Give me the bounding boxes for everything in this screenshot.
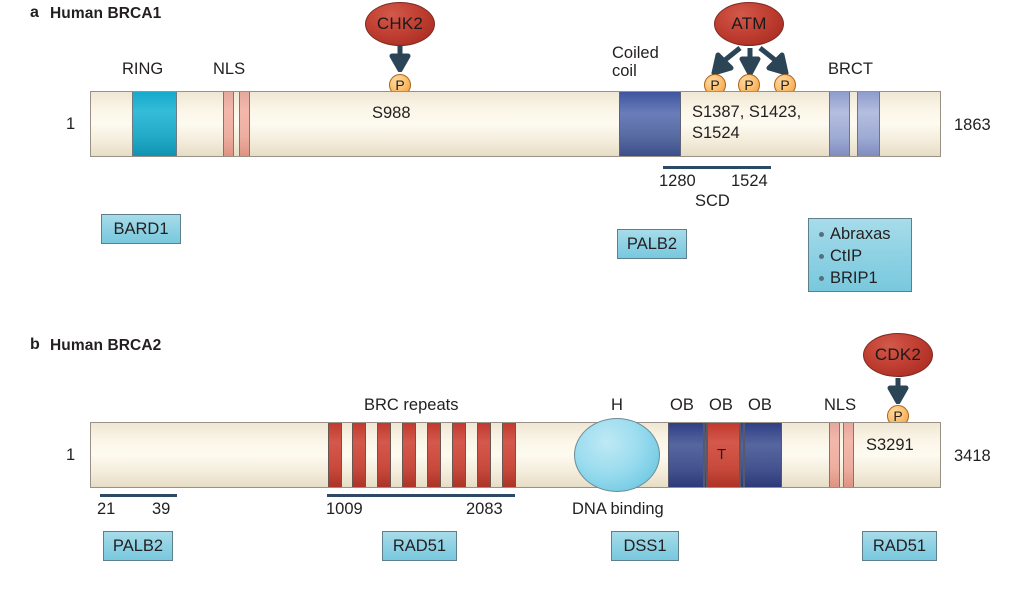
protein-bar-brca2 [90,422,941,488]
kinase-cdk2-label: CDK2 [875,345,921,365]
partner-box-bard1: BARD1 [101,214,181,244]
arrow-atm-to-phosphos [700,46,800,76]
partner-label-bard1: BARD1 [113,220,168,239]
domain-ring [132,92,177,156]
partner-label-rad51-cterm: RAD51 [873,537,926,556]
scale-end-palb2: 39 [152,500,170,519]
domain-label-ring: RING [122,60,163,78]
scale-start-palb2: 21 [97,500,115,519]
domain-label-coil: coil [612,62,637,80]
protein-bar-brca1 [90,91,941,157]
scale-rule-palb2 [100,494,177,497]
phospho-sites-atm-line1: S1387, S1423, [692,103,801,122]
scale-end-brc: 2083 [466,500,503,519]
figure-canvas: a Human BRCA1 CHK2 P ATM P P P RING NLS … [0,0,1024,601]
domain-brct-2 [857,92,880,156]
scale-start-scd: 1280 [659,172,696,191]
domain-helical-oval [574,418,660,492]
scale-end-scd: 1524 [731,172,768,191]
panel-a-title: Human BRCA1 [50,6,161,22]
start-residue-brca1: 1 [66,115,75,134]
domain-nls-brca2-stripe-2 [843,423,854,487]
brc-repeat-1 [328,423,342,487]
domain-nls-stripe-2 [239,92,250,156]
domain-ob-1 [668,423,704,487]
arrow-chk2-to-phospho [388,46,412,72]
phospho-site-s988: S988 [372,104,411,123]
domain-nls-brca2-stripe-1 [829,423,840,487]
panel-b-title: Human BRCA2 [50,338,161,354]
domain-label-ob-1: OB [670,396,694,414]
partner-label-rad51-brc: RAD51 [393,537,446,556]
domain-coiled-coil [619,92,681,156]
end-residue-brca1: 1863 [954,116,991,135]
end-residue-brca2: 3418 [954,447,991,466]
brc-repeat-3 [377,423,391,487]
partner-box-rad51-brc: RAD51 [382,531,457,561]
phospho-sites-atm-line2: S1524 [692,124,740,143]
kinase-chk2: CHK2 [365,2,435,46]
domain-label-brct: BRCT [828,60,873,78]
partner-box-rad51-cterm: RAD51 [862,531,937,561]
caption-dna-binding: DNA binding [572,500,664,519]
panel-b-letter: b [30,337,40,353]
arrow-cdk2-to-phospho [886,378,910,404]
scale-rule-scd [663,166,771,169]
partner-box-palb2-brca1: PALB2 [617,229,687,259]
kinase-cdk2: CDK2 [863,333,933,377]
domain-label-helical: H [611,396,623,414]
domain-label-ob-2: OB [709,396,733,414]
domain-label-nls: NLS [213,60,245,78]
partner-list-item-brip1: BRIP1 [830,268,902,290]
brc-repeat-6 [452,423,466,487]
scale-rule-brc [327,494,515,497]
panel-a-letter: a [30,5,39,21]
scale-caption-scd: SCD [695,192,730,211]
kinase-chk2-label: CHK2 [377,14,423,34]
partner-box-palb2-brca2: PALB2 [103,531,173,561]
phospho-site-s3291: S3291 [866,436,914,455]
partner-box-dss1: DSS1 [611,531,679,561]
kinase-atm: ATM [714,2,784,46]
brc-repeat-2 [352,423,366,487]
brc-repeat-7 [477,423,491,487]
tower-label: T [717,446,726,463]
scale-start-brc: 1009 [326,500,363,519]
start-residue-brca2: 1 [66,446,75,465]
domain-label-nls-brca2: NLS [824,396,856,414]
domain-label-coiled: Coiled [612,44,659,62]
brc-repeat-4 [402,423,416,487]
brc-repeat-5 [427,423,441,487]
domain-ob-3 [744,423,782,487]
domain-nls-stripe-1 [223,92,234,156]
partner-list-item-ctip: CtIP [830,246,902,268]
domain-brct-1 [829,92,850,156]
kinase-atm-label: ATM [731,14,766,34]
domain-label-brc-repeats: BRC repeats [364,396,458,414]
partner-list-item-abraxas: Abraxas [830,224,902,246]
domain-label-ob-3: OB [748,396,772,414]
brc-repeat-8 [502,423,516,487]
partner-label-palb2-brca2: PALB2 [113,537,163,556]
partner-label-palb2: PALB2 [627,235,677,254]
partner-box-brct-complex: Abraxas CtIP BRIP1 [808,218,912,292]
partner-label-dss1: DSS1 [623,537,666,556]
